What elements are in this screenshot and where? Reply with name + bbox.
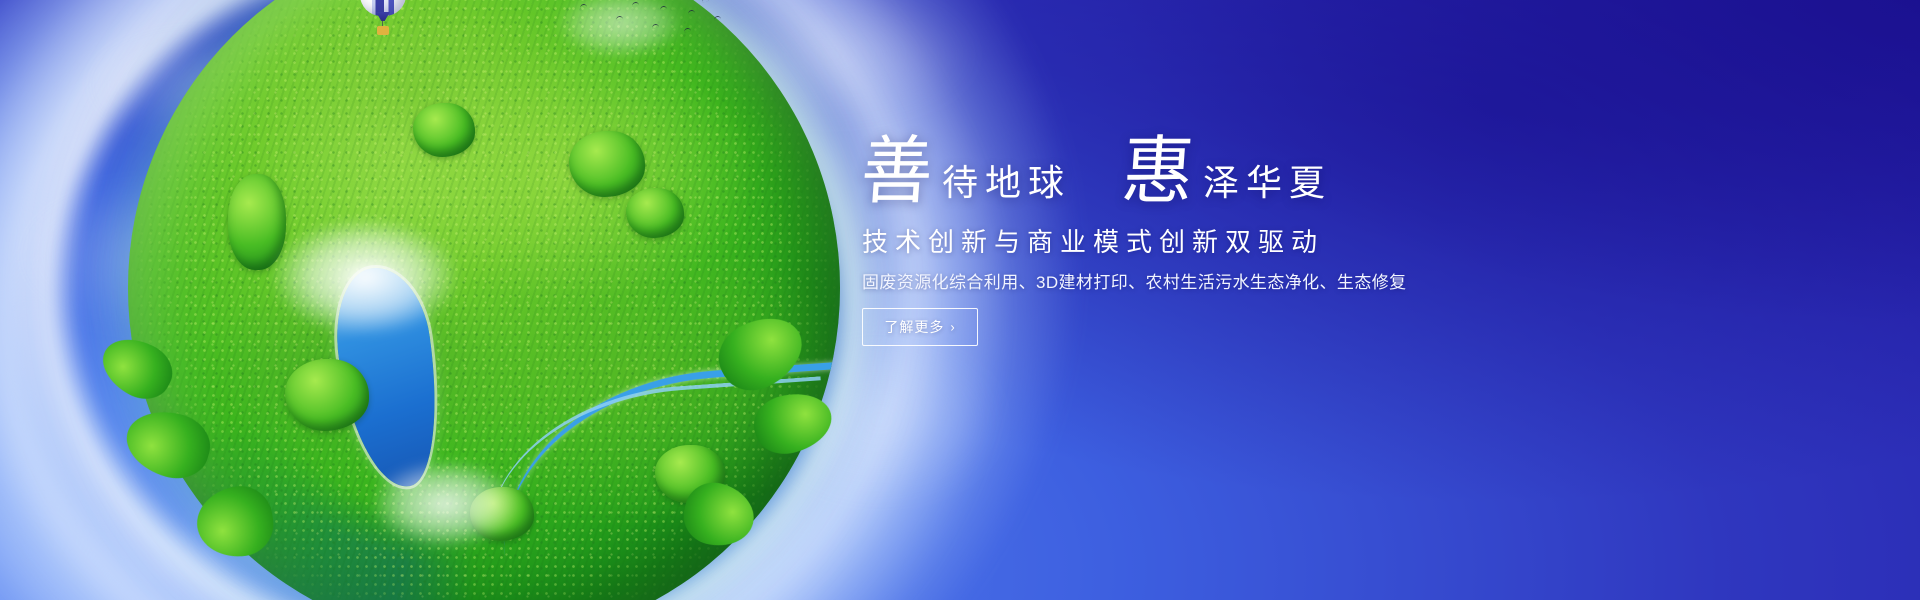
headline-part1-small: 待地球 [942, 165, 1071, 206]
surface-cloud [270, 217, 460, 337]
tree-blob [413, 103, 475, 157]
hero-banner: 善 待地球 惠 泽华夏 技术创新与商业模式创新双驱动 固废资源化综合利用、3D建… [0, 0, 1920, 600]
balloon-skirt [376, 12, 390, 21]
hot-air-balloon-icon [360, 0, 406, 40]
chevron-right-icon: › [950, 320, 955, 333]
headline-part2-large: 惠 [1120, 134, 1197, 208]
page-title: 善 待地球 惠 泽华夏 [862, 136, 1332, 206]
surface-cloud [370, 459, 520, 549]
headline-part2-small: 泽华夏 [1203, 165, 1332, 206]
headline-part1-large: 善 [859, 134, 936, 208]
globe-illustration [128, 0, 840, 600]
tree-blob [626, 188, 684, 238]
balloon-basket [377, 26, 389, 35]
tree-blob [569, 131, 645, 197]
banner-description: 固废资源化综合利用、3D建材打印、农村生活污水生态净化、生态修复 [862, 270, 1407, 296]
banner-content: 善 待地球 惠 泽华夏 技术创新与商业模式创新双驱动 固废资源化综合利用、3D建… [862, 0, 1562, 600]
learn-more-button[interactable]: 了解更多 › [862, 308, 978, 346]
tree-blob [285, 359, 369, 431]
learn-more-label: 了解更多 [884, 317, 944, 337]
banner-subtitle: 技术创新与商业模式创新双驱动 [862, 226, 1324, 260]
